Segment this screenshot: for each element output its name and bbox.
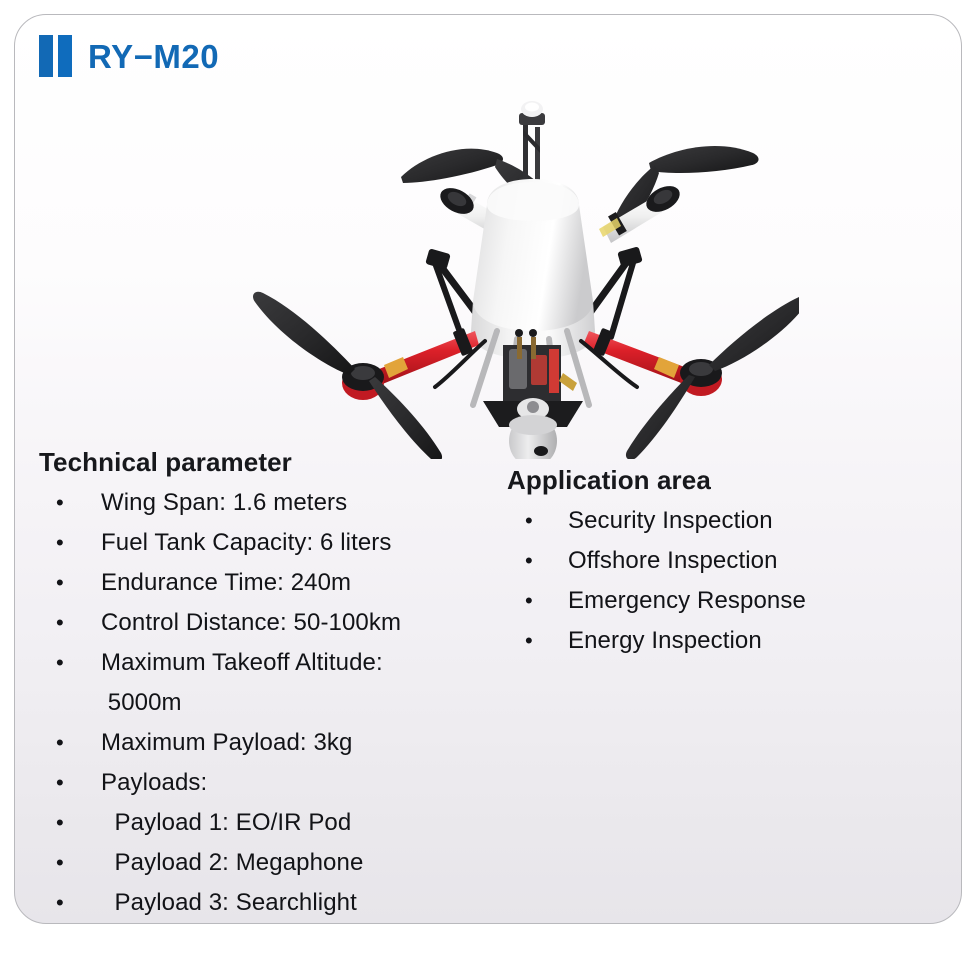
list-item-label: Maximum Takeoff Altitude:	[101, 649, 383, 676]
list-item: •Energy Inspection	[507, 621, 937, 661]
accent-bar-right	[58, 35, 72, 77]
list-item-label: Fuel Tank Capacity: 6 liters	[101, 529, 391, 556]
bullet-icon: •	[56, 803, 64, 843]
list-item: •Offshore Inspection	[507, 541, 937, 581]
list-item-label: Wing Span: 1.6 meters	[101, 489, 347, 516]
list-item-label: Energy Inspection	[568, 627, 762, 654]
application-area-list: •Security Inspection •Offshore Inspectio…	[507, 501, 937, 661]
list-item-label: Control Distance: 50-100km	[101, 609, 401, 636]
strut-clamp-right	[617, 246, 643, 267]
gimbal-camera	[509, 415, 557, 459]
bullet-icon: •	[525, 541, 533, 581]
bullet-icon: •	[525, 501, 533, 541]
list-item: •Security Inspection	[507, 501, 937, 541]
bullet-icon: •	[525, 621, 533, 661]
list-item-continuation: 5000m	[39, 683, 509, 723]
list-item-label: Payload 2: Megaphone	[101, 849, 363, 876]
bullet-icon: •	[56, 843, 64, 883]
bullet-icon: •	[56, 763, 64, 803]
list-item: •Payloads:	[39, 763, 509, 803]
list-item: •Fuel Tank Capacity: 6 liters	[39, 523, 509, 563]
bullet-icon: •	[56, 603, 64, 643]
bullet-icon: •	[56, 563, 64, 603]
bullet-icon: •	[56, 523, 64, 563]
bullet-icon: •	[56, 643, 64, 683]
accent-bar-left	[39, 35, 53, 77]
slide-root: RY−M20	[0, 0, 978, 956]
technical-parameter-section: Technical parameter •Wing Span: 1.6 mete…	[39, 447, 509, 923]
application-area-heading: Application area	[507, 465, 937, 496]
list-item: • Payload 3: Searchlight	[39, 883, 509, 923]
bullet-icon: •	[56, 883, 64, 923]
bullet-icon: •	[56, 483, 64, 523]
title-accent-bars-icon	[39, 35, 72, 77]
technical-parameter-heading: Technical parameter	[39, 447, 509, 478]
bullet-icon: •	[56, 723, 64, 763]
list-item: •Maximum Payload: 3kg	[39, 723, 509, 763]
bullet-icon: •	[525, 581, 533, 621]
list-item-label: Offshore Inspection	[568, 547, 778, 574]
list-item: •Emergency Response	[507, 581, 937, 621]
list-item: •Wing Span: 1.6 meters	[39, 483, 509, 523]
list-item: • Payload 2: Megaphone	[39, 843, 509, 883]
card-title-row: RY−M20	[39, 28, 219, 84]
list-item-label: Payload 1: EO/IR Pod	[101, 809, 351, 836]
list-item: • Payload 1: EO/IR Pod	[39, 803, 509, 843]
list-item-label: Payloads:	[101, 769, 207, 796]
list-item: •Maximum Takeoff Altitude:	[39, 643, 509, 683]
arm-front-left	[369, 328, 479, 387]
drone-product-image	[251, 87, 799, 459]
list-item-label: Maximum Payload: 3kg	[101, 729, 352, 756]
list-item-label: 5000m	[101, 689, 182, 716]
page-title: RY−M20	[88, 40, 219, 73]
list-item: •Endurance Time: 240m	[39, 563, 509, 603]
technical-parameter-list: •Wing Span: 1.6 meters •Fuel Tank Capaci…	[39, 483, 509, 923]
application-area-section: Application area •Security Inspection •O…	[507, 465, 937, 661]
list-item: •Control Distance: 50-100km	[39, 603, 509, 643]
list-item-label: Endurance Time: 240m	[101, 569, 351, 596]
strut-clamp-left	[425, 248, 451, 269]
product-card: RY−M20	[14, 14, 962, 924]
list-item-label: Emergency Response	[568, 587, 806, 614]
list-item-label: Payload 3: Searchlight	[101, 889, 357, 916]
list-item-label: Security Inspection	[568, 507, 773, 534]
